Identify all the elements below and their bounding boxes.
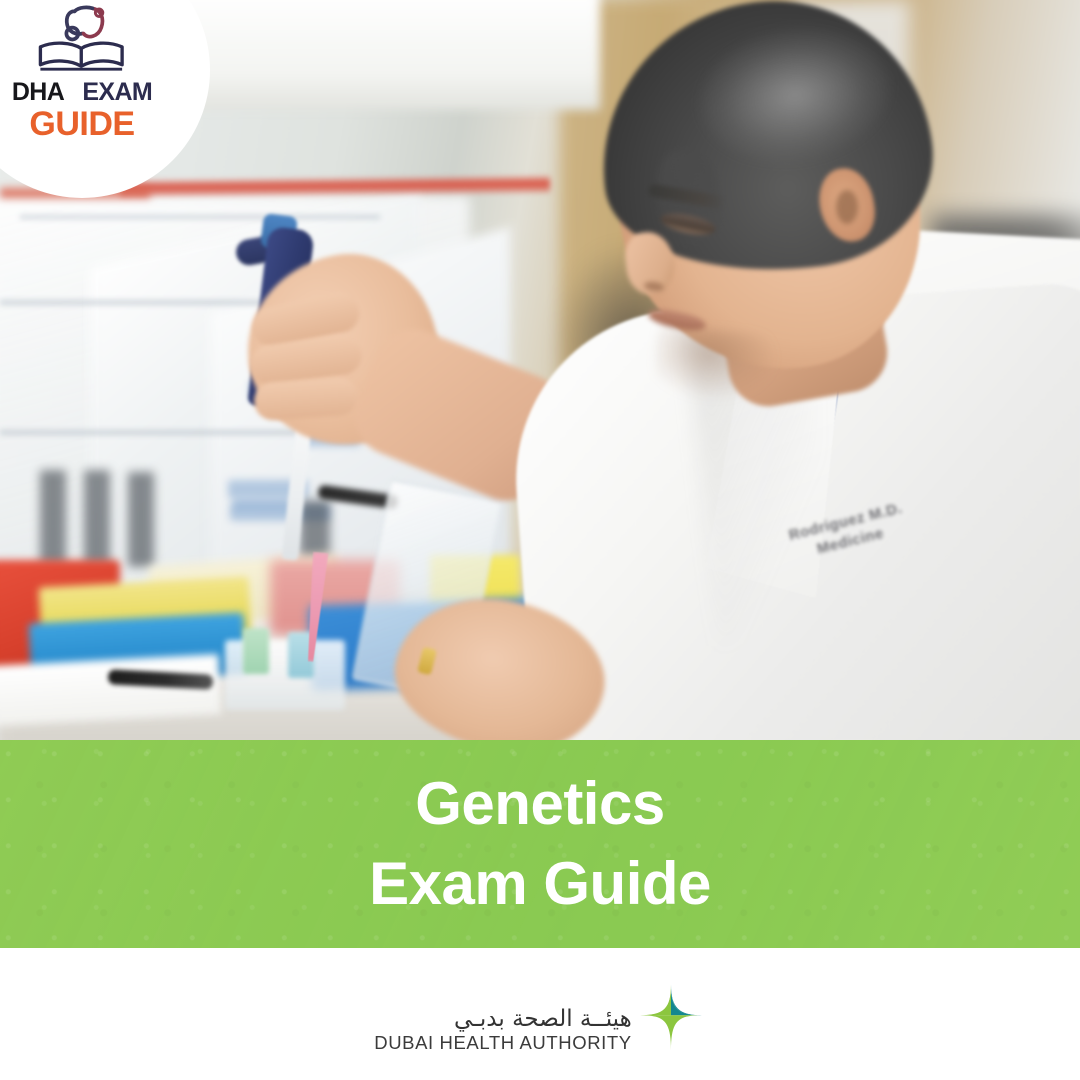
badge-guide-text: GUIDE [29, 107, 134, 141]
rack-slot [84, 470, 110, 565]
badge-dha-text: DHA [12, 78, 63, 106]
footer: هيئــة الصحة بدبـي DUBAI HEALTH AUTHORIT… [0, 948, 1080, 1080]
dha-arabic-name: هيئــة الصحة بدبـي [454, 1008, 632, 1031]
badge-exam-text: EXAM [82, 78, 152, 106]
equipment-label [232, 498, 292, 510]
stethoscope-over-open-book-icon [30, 0, 134, 76]
chin-shadow [652, 324, 779, 406]
microcentrifuge-tube [243, 628, 269, 674]
poster-canvas: Rodriguez M.D. Medicine Genetics [0, 0, 1080, 1080]
badge-line-1: DHA EXAM [12, 80, 152, 105]
title-banner: Genetics Exam Guide [0, 740, 1080, 948]
rack-slot [40, 470, 66, 565]
shelf-divider [20, 215, 380, 219]
banner-title-line-2: Exam Guide [369, 844, 711, 924]
banner-title-line-1: Genetics [415, 764, 664, 844]
dubai-health-authority-logo: هيئــة الصحة بدبـي DUBAI HEALTH AUTHORIT… [374, 980, 706, 1056]
dha-logo-text: هيئــة الصحة بدبـي DUBAI HEALTH AUTHORIT… [374, 1008, 632, 1057]
finger [253, 376, 359, 421]
paper-stack [0, 654, 221, 726]
rack-slot [128, 472, 154, 567]
dha-english-name: DUBAI HEALTH AUTHORITY [374, 1034, 632, 1053]
four-pointed-star-icon [636, 980, 706, 1056]
badge-content: DHA EXAM GUIDE [0, 0, 164, 150]
ear-canal [836, 190, 858, 224]
